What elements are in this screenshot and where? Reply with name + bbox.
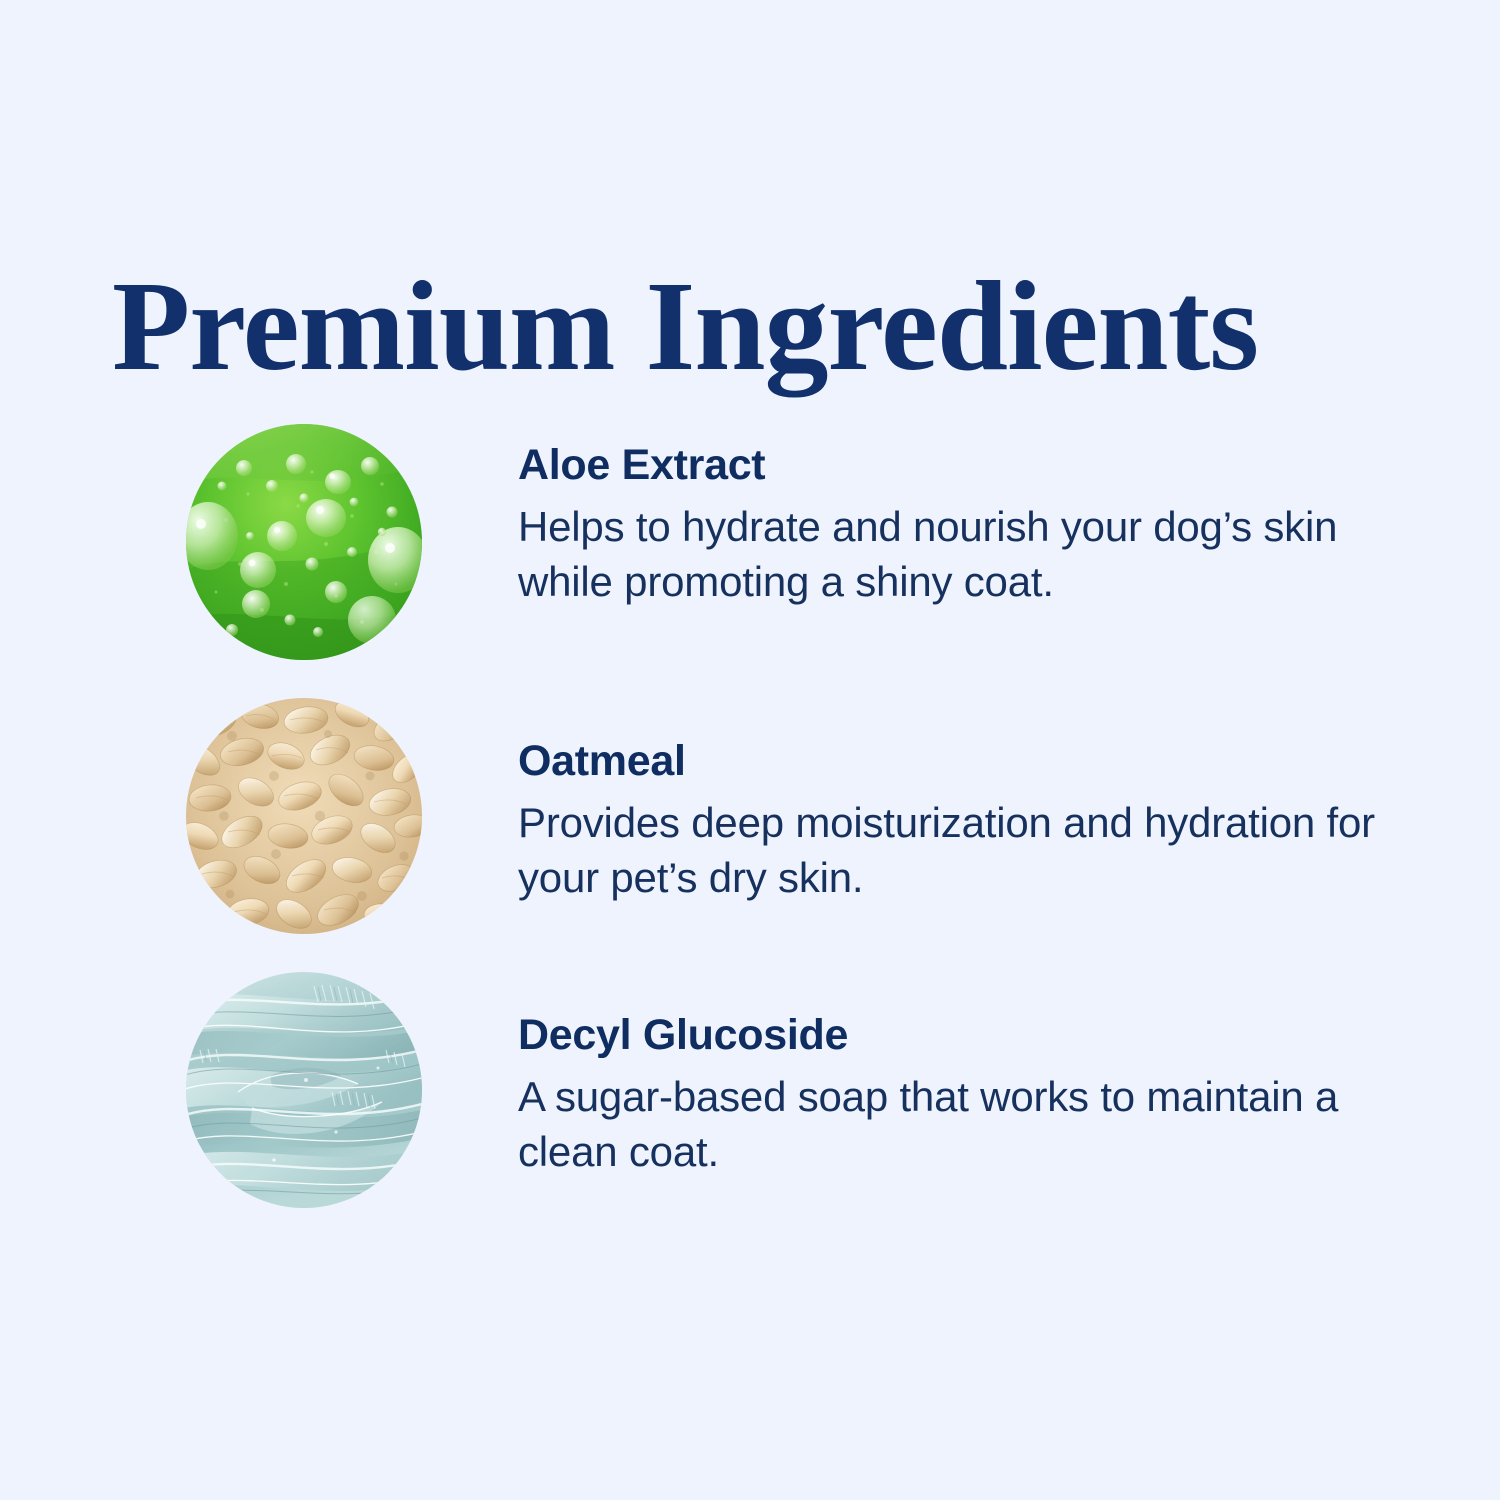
list-item: Oatmeal Provides deep moisturization and… <box>0 694 1500 968</box>
ingredient-description: Provides deep moisturization and hydrati… <box>518 795 1408 906</box>
list-item: Aloe Extract Helps to hydrate and nouris… <box>0 420 1500 694</box>
teal-gel-texture-photo <box>186 972 422 1208</box>
rolled-oats-photo <box>186 698 422 934</box>
ingredient-name: Decyl Glucoside <box>518 1010 1418 1061</box>
ingredient-name: Oatmeal <box>518 736 1418 787</box>
ingredient-text-block: Decyl Glucoside A sugar-based soap that … <box>518 1010 1418 1180</box>
ingredient-description: A sugar-based soap that works to maintai… <box>518 1069 1408 1180</box>
premium-ingredients-page: Premium Ingredients <box>0 0 1500 1500</box>
list-item: Decyl Glucoside A sugar-based soap that … <box>0 968 1500 1242</box>
ingredient-text-block: Oatmeal Provides deep moisturization and… <box>518 736 1418 906</box>
ingredient-text-block: Aloe Extract Helps to hydrate and nouris… <box>518 440 1418 610</box>
page-title: Premium Ingredients <box>112 262 1402 390</box>
aloe-leaf-water-droplets-photo <box>186 424 422 660</box>
ingredient-list: Aloe Extract Helps to hydrate and nouris… <box>0 420 1500 1242</box>
ingredient-description: Helps to hydrate and nourish your dog’s … <box>518 499 1408 610</box>
ingredient-name: Aloe Extract <box>518 440 1418 491</box>
